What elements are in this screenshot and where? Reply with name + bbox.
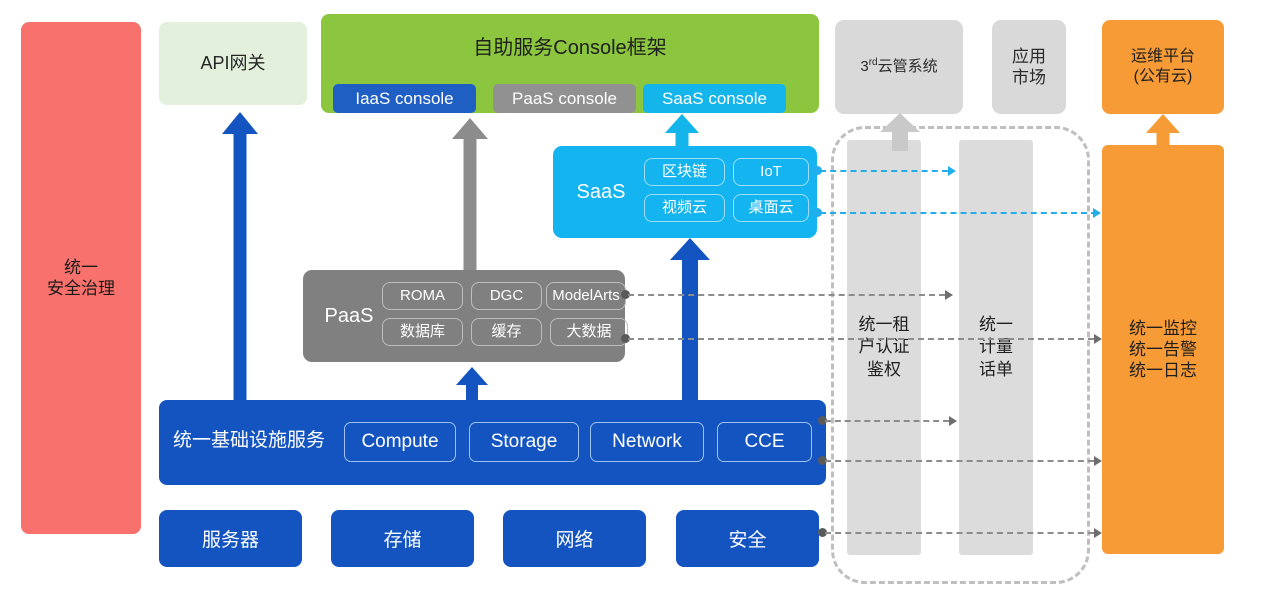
paas-service-roma[interactable]: ROMA (382, 282, 463, 310)
third-party-cloud-management-box: 3rd云管系统 (835, 20, 963, 114)
unified-metering-label: 统一 计量 话单 (979, 314, 1013, 380)
dashed-line-paas-to-auth (628, 294, 945, 296)
self-service-console-framework: 自助服务Console框架 IaaS console PaaS console … (321, 14, 819, 113)
arrow-to-ops-platform (1146, 114, 1180, 148)
architecture-diagram: 统一 安全治理 API网关 自助服务Console框架 IaaS console… (0, 0, 1265, 605)
paas-service-modelarts[interactable]: ModelArts (546, 282, 626, 310)
arrow-infra-to-saas (670, 238, 710, 400)
arrowhead-hardware-to-ops (1094, 528, 1102, 538)
paas-box: PaaS ROMA DGC ModelArts 数据库 缓存 大数据 (303, 270, 625, 362)
app-market-box: 应用 市场 (992, 20, 1066, 114)
api-gateway-label: API网关 (200, 52, 265, 75)
arrowhead-saas-to-ops (1093, 208, 1101, 218)
dashed-line-infra-to-ops (825, 460, 1094, 462)
unified-metering-column: 统一 计量 话单 (959, 140, 1033, 555)
paas-service-dgc[interactable]: DGC (471, 282, 542, 310)
paas-console-chip[interactable]: PaaS console (493, 84, 636, 113)
console-framework-title: 自助服务Console框架 (321, 36, 819, 61)
dashed-line-saas-to-metering (820, 170, 948, 172)
ops-platform-public-cloud-box: 运维平台 (公有云) (1102, 20, 1224, 114)
ops-platform-monitoring-panel: 统一监控 统一告警 统一日志 (1102, 145, 1224, 554)
api-gateway-box: API网关 (159, 22, 307, 105)
dashed-line-saas-to-ops (820, 212, 1097, 214)
paas-label: PaaS (313, 304, 385, 329)
arrowhead-infra-to-ops (1094, 456, 1102, 466)
arrowhead-paas-to-ops (1094, 334, 1102, 344)
app-market-label: 应用 市场 (1012, 46, 1046, 89)
dashed-line-paas-to-ops (628, 338, 1094, 340)
saas-label: SaaS (565, 180, 637, 205)
hardware-network-box[interactable]: 网络 (503, 510, 646, 567)
hardware-security-box[interactable]: 安全 (676, 510, 819, 567)
hardware-storage-box[interactable]: 存储 (331, 510, 474, 567)
iaas-console-chip[interactable]: IaaS console (333, 84, 476, 113)
arrow-paas-to-console (452, 118, 488, 270)
dashed-line-infra-to-metering (825, 420, 949, 422)
infra-service-cce[interactable]: CCE (717, 422, 812, 462)
arrow-infra-to-api-gateway (222, 112, 258, 400)
ops-platform-body-label: 统一监控 统一告警 统一日志 (1129, 318, 1197, 382)
infra-service-storage[interactable]: Storage (469, 422, 579, 462)
dashed-line-hardware-to-ops (825, 532, 1094, 534)
saas-box: SaaS 区块链 IoT 视频云 桌面云 (553, 146, 817, 238)
arrowhead-saas-to-metering (948, 166, 956, 176)
unified-tenant-auth-column: 统一租 户认证 鉴权 (847, 140, 921, 555)
unified-tenant-auth-label: 统一租 户认证 鉴权 (859, 314, 910, 380)
unified-infrastructure-service-bar: 统一基础设施服务 Compute Storage Network CCE (159, 400, 826, 485)
saas-service-video-cloud[interactable]: 视频云 (644, 194, 725, 222)
infra-service-network[interactable]: Network (590, 422, 704, 462)
paas-service-cache[interactable]: 缓存 (471, 318, 542, 346)
paas-service-database[interactable]: 数据库 (382, 318, 463, 346)
arrowhead-infra-to-metering (949, 416, 957, 426)
unified-security-governance-panel: 统一 安全治理 (21, 22, 141, 534)
arrow-zone-to-third-party (880, 113, 920, 151)
ops-platform-top-label: 运维平台 (公有云) (1131, 47, 1195, 87)
arrow-infra-to-paas (456, 367, 488, 400)
third-party-label: 3rd云管系统 (860, 57, 937, 77)
saas-console-chip[interactable]: SaaS console (643, 84, 786, 113)
infra-service-compute[interactable]: Compute (344, 422, 456, 462)
arrow-saas-to-console (665, 114, 699, 148)
saas-service-blockchain[interactable]: 区块链 (644, 158, 725, 186)
paas-service-bigdata[interactable]: 大数据 (550, 318, 628, 346)
saas-service-iot[interactable]: IoT (733, 158, 809, 186)
saas-service-desktop-cloud[interactable]: 桌面云 (733, 194, 809, 222)
infrastructure-label: 统一基础设施服务 (173, 429, 325, 453)
governance-label: 统一 安全治理 (47, 257, 115, 300)
arrowhead-paas-to-auth (945, 290, 953, 300)
hardware-server-box[interactable]: 服务器 (159, 510, 302, 567)
